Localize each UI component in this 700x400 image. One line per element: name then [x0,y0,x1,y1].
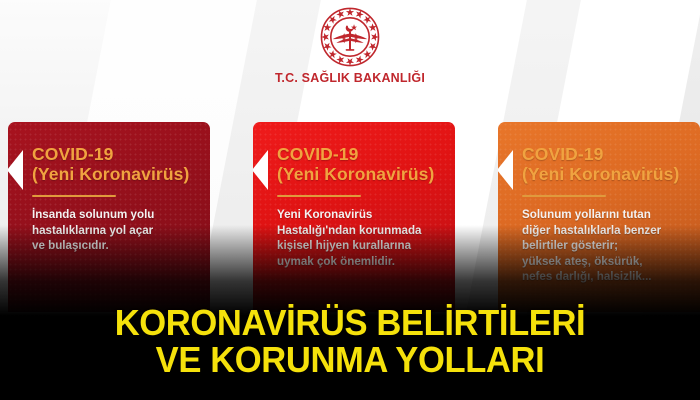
chevron-notch-icon [253,150,268,190]
panel-title: COVID-19 (Yeni Koronavirüs) [32,144,198,184]
panel-title-line2: (Yeni Koronavirüs) [277,164,443,184]
panel-divider [522,195,606,197]
headline-banner: KORONAVİRÜS BELİRTİLERİ VE KORUNMA YOLLA… [14,304,686,378]
headline-line1: KORONAVİRÜS BELİRTİLERİ [14,304,686,341]
panel-body-line: Yeni Koronavirüs [277,207,443,223]
panel-title-line1: COVID-19 [522,144,604,164]
panel-divider [277,195,361,197]
ministry-logo-block: T.C. SAĞLIK BAKANLIĞI [0,6,700,85]
panel-body-line: İnsanda solunum yolu [32,207,198,223]
chevron-notch-icon [8,150,23,190]
panel-title: COVID-19 (Yeni Koronavirüs) [277,144,443,184]
panel-title-line2: (Yeni Koronavirüs) [522,164,688,184]
panel-body-line: Solunum yollarını tutan [522,207,688,223]
panel-title-line1: COVID-19 [277,144,359,164]
infographic-canvas: T.C. SAĞLIK BAKANLIĞI COVID-19 (Yeni Kor… [0,0,700,400]
organization-name: T.C. SAĞLIK BAKANLIĞI [275,71,425,85]
chevron-notch-icon [498,150,513,190]
panel-title-line1: COVID-19 [32,144,114,164]
headline-line2: VE KORUNMA YOLLARI [14,341,686,378]
panel-divider [32,195,116,197]
panel-title-line2: (Yeni Koronavirüs) [32,164,198,184]
panel-title: COVID-19 (Yeni Koronavirüs) [522,144,688,184]
turkish-ministry-of-health-caduceus-icon [319,6,381,68]
